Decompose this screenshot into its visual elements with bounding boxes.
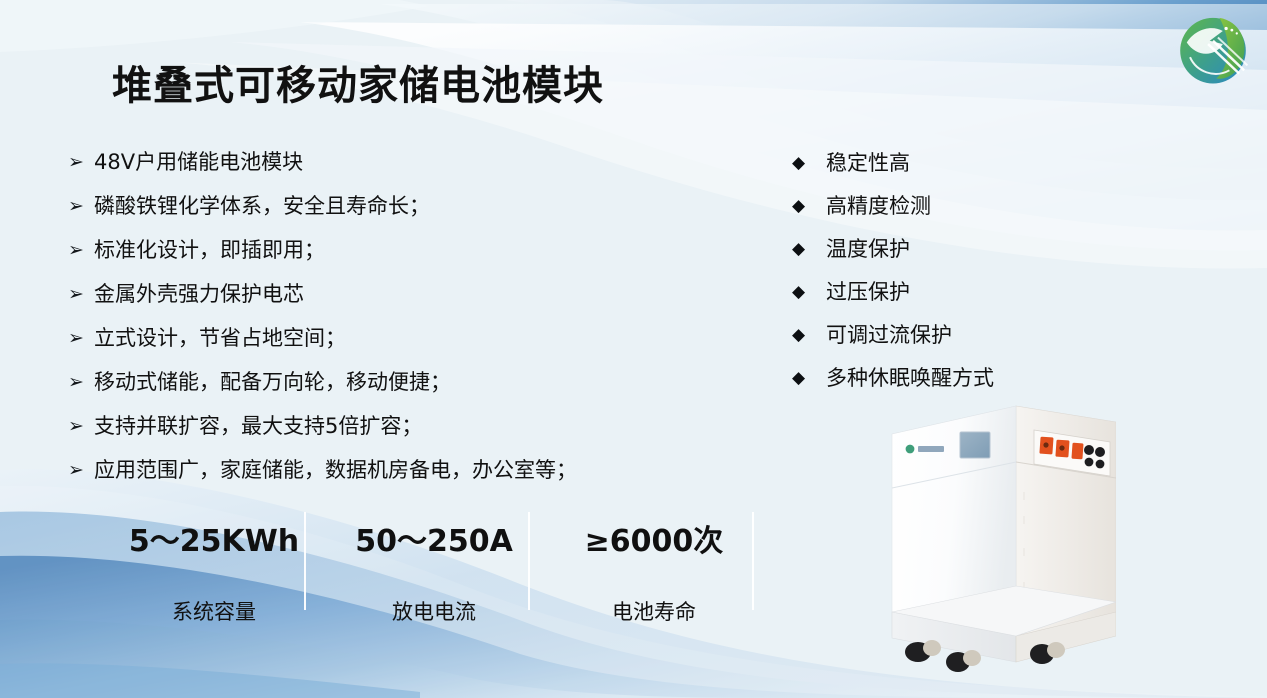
stat-discharge-current: 50〜250A 放电电流: [324, 506, 544, 620]
stat-label: 系统容量: [172, 596, 256, 626]
stat-value: ≥6000次: [585, 516, 724, 560]
stat-value: 5〜25KWh: [129, 516, 299, 560]
product-image-battery-cabinet: [884, 396, 1116, 684]
list-item: ◆ 高精度检测: [792, 193, 1092, 236]
diamond-bullet-icon: ◆: [792, 322, 826, 348]
arrow-bullet-icon: ➢: [68, 237, 94, 265]
list-item: ➢ 48V户用储能电池模块: [68, 148, 708, 192]
arrow-bullet-icon: ➢: [68, 281, 94, 309]
diamond-bullet-icon: ◆: [792, 150, 826, 176]
list-item-label: 温度保护: [826, 236, 910, 262]
stat-value: 50〜250A: [355, 516, 513, 560]
diamond-bullet-icon: ◆: [792, 236, 826, 262]
list-item-label: 稳定性高: [826, 150, 910, 176]
stat-label: 电池寿命: [612, 596, 696, 626]
list-item: ➢ 应用范围广，家庭储能，数据机房备电，办公室等；: [68, 456, 708, 500]
list-item-label: 金属外壳强力保护电芯: [94, 280, 304, 308]
diamond-bullet-icon: ◆: [792, 279, 826, 305]
list-item-label: 48V户用储能电池模块: [94, 148, 303, 176]
list-item-label: 支持并联扩容，最大支持5倍扩容；: [94, 412, 422, 440]
list-item: ➢ 立式设计，节省占地空间；: [68, 324, 708, 368]
stat-system-capacity: 5〜25KWh 系统容量: [104, 506, 324, 620]
list-item-label: 立式设计，节省占地空间；: [94, 324, 346, 352]
list-item: ➢ 标准化设计，即插即用；: [68, 236, 708, 280]
product-lcd-screen: [960, 432, 990, 458]
list-item-label: 多种休眠唤醒方式: [826, 365, 994, 391]
left-feature-list: ➢ 48V户用储能电池模块 ➢ 磷酸铁锂化学体系，安全且寿命长； ➢ 标准化设计…: [68, 148, 708, 500]
arrow-bullet-icon: ➢: [68, 369, 94, 397]
arrow-bullet-icon: ➢: [68, 413, 94, 441]
list-item-label: 磷酸铁锂化学体系，安全且寿命长；: [94, 192, 430, 220]
diamond-bullet-icon: ◆: [792, 365, 826, 391]
list-item: ◆ 过压保护: [792, 279, 1092, 322]
arrow-bullet-icon: ➢: [68, 457, 94, 485]
list-item: ➢ 支持并联扩容，最大支持5倍扩容；: [68, 412, 708, 456]
list-item-label: 高精度检测: [826, 193, 931, 219]
list-item: ◆ 可调过流保护: [792, 322, 1092, 365]
page-title: 堆叠式可移动家储电池模块: [112, 53, 604, 111]
list-item: ➢ 金属外壳强力保护电芯: [68, 280, 708, 324]
list-item-label: 标准化设计，即插即用；: [94, 236, 325, 264]
company-logo-icon: [1172, 8, 1254, 90]
stat-battery-life: ≥6000次 电池寿命: [544, 506, 764, 620]
right-feature-list: ◆ 稳定性高 ◆ 高精度检测 ◆ 温度保护 ◆ 过压保护 ◆ 可调过流保护 ◆ …: [792, 150, 1092, 408]
list-item-label: 移动式储能，配备万向轮，移动便捷；: [94, 368, 451, 396]
stat-label: 放电电流: [392, 596, 476, 626]
list-item: ➢ 磷酸铁锂化学体系，安全且寿命长；: [68, 192, 708, 236]
arrow-bullet-icon: ➢: [68, 325, 94, 353]
arrow-bullet-icon: ➢: [68, 149, 94, 177]
list-item: ◆ 温度保护: [792, 236, 1092, 279]
list-item-label: 过压保护: [826, 279, 910, 305]
list-item: ➢ 移动式储能，配备万向轮，移动便捷；: [68, 368, 708, 412]
list-item-label: 应用范围广，家庭储能，数据机房备电，办公室等；: [94, 456, 577, 484]
list-item: ◆ 稳定性高: [792, 150, 1092, 193]
spec-stats-row: 5〜25KWh 系统容量 50〜250A 放电电流 ≥6000次 电池寿命: [104, 506, 764, 620]
arrow-bullet-icon: ➢: [68, 193, 94, 221]
slide-root: 堆叠式可移动家储电池模块 ➢ 48V户用储能电池模块 ➢ 磷酸铁锂化学体系，安全…: [0, 0, 1267, 698]
list-item-label: 可调过流保护: [826, 322, 952, 348]
diamond-bullet-icon: ◆: [792, 193, 826, 219]
